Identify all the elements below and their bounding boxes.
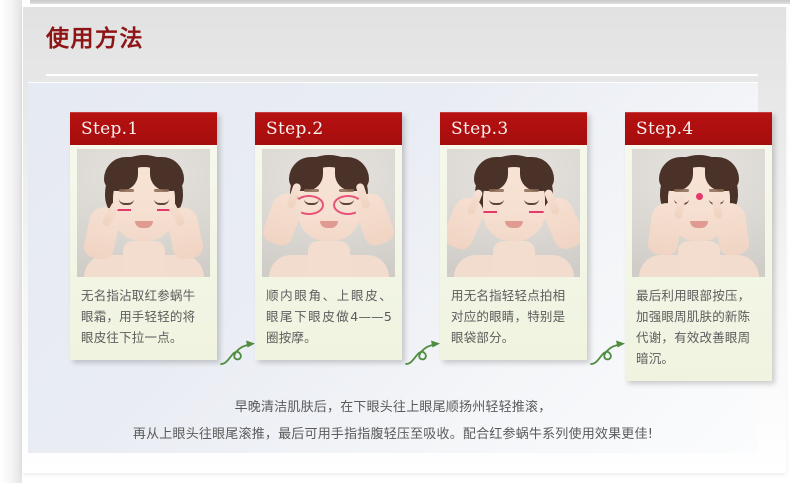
photo-eyebrow-right	[524, 189, 539, 192]
green-curved-arrow-icon	[219, 334, 259, 368]
section-title-text: 使用方法	[46, 24, 144, 54]
step-card[interactable]: Step.2	[255, 112, 402, 360]
green-curved-arrow-icon	[404, 334, 444, 368]
step-card-header: Step.3	[440, 112, 587, 145]
photo-neck	[493, 241, 535, 277]
step-card-caption: 无名指沾取红参蜗牛眼霜，用手轻轻的将眼皮往下拉一点。	[70, 277, 217, 360]
step-card-caption: 顺内眼角、上眼皮、眼尾下眼皮做4——5圈按摩。	[255, 277, 402, 360]
step-card-label: Step.1	[70, 112, 217, 142]
steps-panel: Step.1	[28, 82, 758, 453]
step-card-label: Step.2	[255, 112, 402, 142]
step-card-caption: 最后利用眼部按压，加强眼周肌肤的新陈代谢，有效改善眼周暗沉。	[625, 277, 772, 381]
photo-eyebrow-right	[154, 189, 169, 192]
photo-eyebrow-left	[489, 189, 504, 192]
photo-neck	[123, 241, 165, 277]
frame-left-strip	[0, 0, 22, 483]
step-photo	[447, 149, 580, 277]
green-curved-arrow-icon	[589, 334, 629, 368]
step-card[interactable]: Step.3	[440, 112, 587, 360]
step-photo	[77, 149, 210, 277]
step-card-list: Step.1	[28, 82, 758, 382]
photo-eyebrow-left	[674, 189, 689, 192]
step-connector-arrow	[219, 334, 259, 368]
title-divider	[46, 74, 758, 77]
photo-press-point	[696, 193, 703, 200]
usage-method-section: 使用方法 Step.1	[0, 0, 790, 483]
photo-eyebrow-right	[709, 189, 724, 192]
step-connector-arrow	[589, 334, 629, 368]
step-card[interactable]: Step.4	[625, 112, 772, 381]
photo-neck	[678, 241, 720, 277]
step-card[interactable]: Step.1	[70, 112, 217, 360]
step-card-header: Step.2	[255, 112, 402, 145]
frame-top-strip	[30, 0, 790, 4]
photo-neck	[308, 241, 350, 277]
step-photo	[632, 149, 765, 277]
photo-eyebrow-left	[119, 189, 134, 192]
photo-eyebrow-left	[304, 189, 319, 192]
usage-summary-line-1: 早晚清洁肌肤后，在下眼头往上眼尾顺扬州轻轻推滚，	[28, 394, 758, 421]
step-photo	[262, 149, 395, 277]
step-connector-arrow	[404, 334, 444, 368]
section-title: 使用方法	[46, 24, 144, 60]
photo-eyebrow-right	[339, 189, 354, 192]
step-card-caption: 用无名指轻轻点拍相对应的眼睛，特别是眼袋部分。	[440, 277, 587, 360]
usage-summary-line-2: 再从上眼头往眼尾滚推，最后可用手指指腹轻压至吸收。配合红参蜗牛系列使用效果更佳!	[28, 421, 758, 448]
step-card-header: Step.1	[70, 112, 217, 145]
step-card-label: Step.3	[440, 112, 587, 142]
step-card-header: Step.4	[625, 112, 772, 145]
step-card-label: Step.4	[625, 112, 772, 142]
usage-summary: 早晚清洁肌肤后，在下眼头往上眼尾顺扬州轻轻推滚， 再从上眼头往眼尾滚推，最后可用…	[28, 394, 758, 448]
